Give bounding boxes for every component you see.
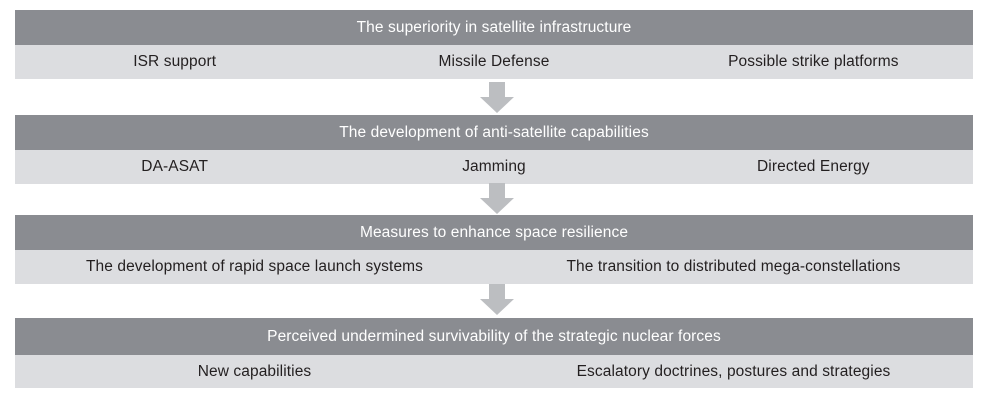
flow-block-3-items: The development of rapid space launch sy…: [15, 250, 973, 284]
arrow-block1-to-block2-icon: [480, 82, 514, 113]
flow-block-3-item-1: The development of rapid space launch sy…: [15, 250, 494, 284]
flow-block-2-item-2: Jamming: [334, 150, 653, 184]
flow-block-4-items: New capabilities Escalatory doctrines, p…: [15, 355, 973, 388]
flow-block-3-header: Measures to enhance space resilience: [15, 215, 973, 250]
flow-block-2-items: DA-ASAT Jamming Directed Energy: [15, 150, 973, 184]
flow-block-1-items: ISR support Missile Defense Possible str…: [15, 45, 973, 79]
flow-block-2: The development of anti-satellite capabi…: [15, 115, 973, 184]
flow-block-4-header: Perceived undermined survivability of th…: [15, 318, 973, 355]
flow-block-4: Perceived undermined survivability of th…: [15, 318, 973, 388]
flow-block-3: Measures to enhance space resilience The…: [15, 215, 973, 284]
flow-block-3-item-2: The transition to distributed mega-const…: [494, 250, 973, 284]
arrow-block3-to-block4-icon: [480, 284, 514, 315]
flow-block-1: The superiority in satellite infrastruct…: [15, 10, 973, 79]
flow-block-4-item-1: New capabilities: [15, 355, 494, 388]
flow-block-2-header: The development of anti-satellite capabi…: [15, 115, 973, 150]
flow-block-4-item-2: Escalatory doctrines, postures and strat…: [494, 355, 973, 388]
flow-block-2-item-3: Directed Energy: [654, 150, 973, 184]
flow-block-1-item-3: Possible strike platforms: [654, 45, 973, 79]
flow-block-1-header: The superiority in satellite infrastruct…: [15, 10, 973, 45]
flow-block-1-item-1: ISR support: [15, 45, 334, 79]
flow-block-1-item-2: Missile Defense: [334, 45, 653, 79]
flow-diagram: The superiority in satellite infrastruct…: [0, 0, 992, 414]
flow-block-2-item-1: DA-ASAT: [15, 150, 334, 184]
arrow-block2-to-block3-icon: [480, 183, 514, 214]
